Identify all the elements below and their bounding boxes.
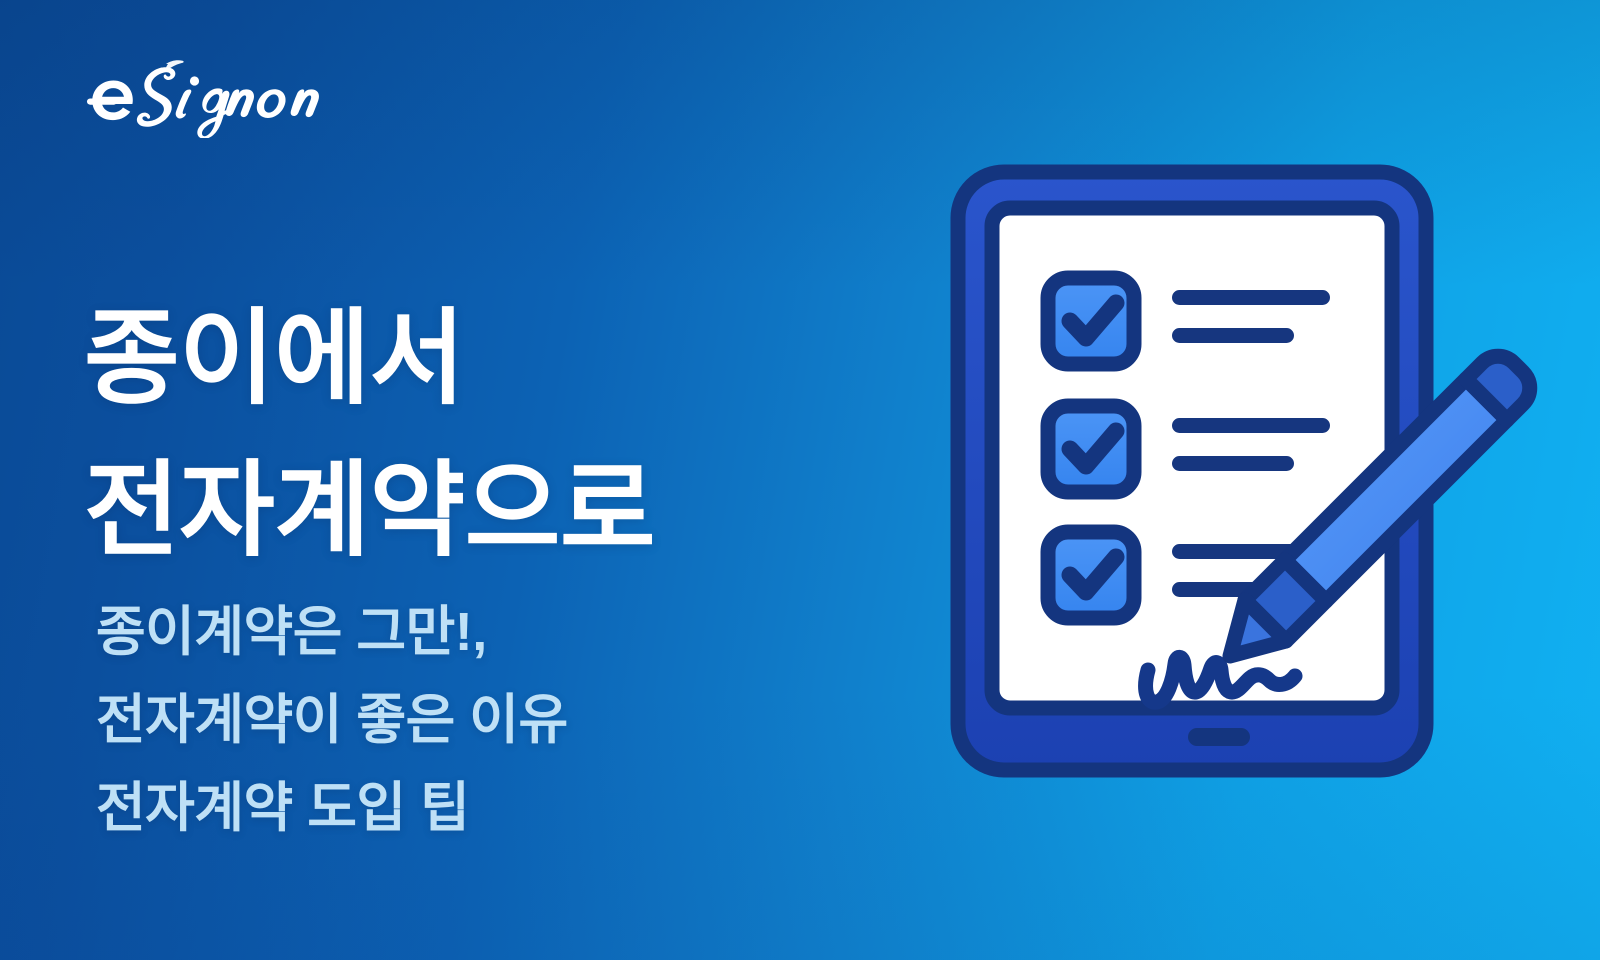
headline-line-1: 종이에서 [84, 284, 655, 436]
text-line [1172, 290, 1330, 305]
subtitle: 종이계약은 그만!, 전자계약이 좋은 이유 전자계약 도입 팁 [96, 588, 568, 852]
text-line [1172, 456, 1294, 471]
subtitle-line-1: 종이계약은 그만!, [96, 588, 568, 676]
headline: 종이에서 전자계약으로 [84, 284, 655, 588]
promo-banner: 종이에서 전자계약으로 종이계약은 그만!, 전자계약이 좋은 이유 전자계약 … [0, 0, 1600, 960]
text-line [1172, 418, 1330, 433]
headline-line-2: 전자계약으로 [84, 436, 655, 588]
home-button[interactable] [1188, 728, 1250, 746]
subtitle-line-3: 전자계약 도입 팁 [96, 764, 568, 852]
tablet-contract-illustration [900, 150, 1540, 790]
subtitle-line-2: 전자계약이 좋은 이유 [96, 676, 568, 764]
text-line [1172, 328, 1294, 343]
esignon-script-logo-icon [87, 60, 319, 138]
esignon-logo[interactable] [82, 58, 322, 138]
